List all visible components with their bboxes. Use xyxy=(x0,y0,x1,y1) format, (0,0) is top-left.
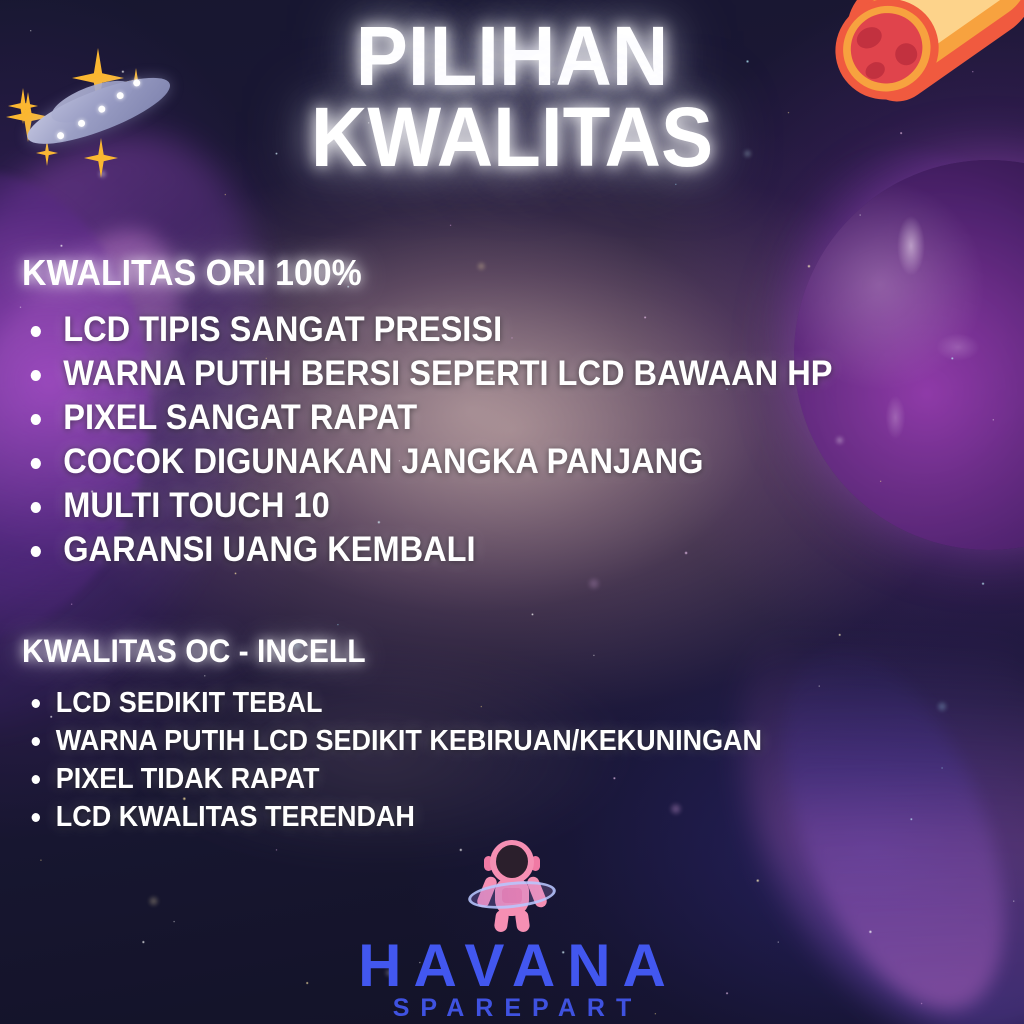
list-item: PIXEL SANGAT RAPAT xyxy=(0,396,952,440)
bullet-dot-icon xyxy=(31,326,41,337)
list-item-label: WARNA PUTIH BERSI SEPERTI LCD BAWAAN HP xyxy=(63,354,832,393)
brand-logo: HAVANA SPAREPART xyxy=(0,840,1024,1022)
feature-list-ori: LCD TIPIS SANGAT PRESISI WARNA PUTIH BER… xyxy=(0,308,1024,572)
bullet-dot-icon xyxy=(32,699,40,708)
title-line-2: KWALITAS xyxy=(36,97,988,178)
bullet-dot-icon xyxy=(31,414,41,425)
list-item-label: WARNA PUTIH LCD SEDIKIT KEBIRUAN/KEKUNIN… xyxy=(56,725,762,757)
list-item: LCD SEDIKIT TEBAL xyxy=(0,684,952,722)
poster-title: PILIHAN KWALITAS xyxy=(36,16,988,177)
bullet-dot-icon xyxy=(32,737,40,746)
brand-tagline: SPAREPART xyxy=(0,994,1024,1022)
list-item-label: LCD KWALITAS TERENDAH xyxy=(56,801,415,833)
bullet-dot-icon xyxy=(31,370,41,381)
list-item: GARANSI UANG KEMBALI xyxy=(0,528,952,572)
bullet-dot-icon xyxy=(32,813,40,822)
section-heading: KWALITAS ORI 100% xyxy=(22,252,964,294)
section-kwalitas-oc: KWALITAS OC - INCELL LCD SEDIKIT TEBAL W… xyxy=(0,633,1024,836)
list-item-label: MULTI TOUCH 10 xyxy=(63,486,329,525)
brand-name: HAVANA xyxy=(0,936,1024,996)
list-item-label: PIXEL TIDAK RAPAT xyxy=(56,763,320,795)
astronaut-leg-right xyxy=(515,909,531,933)
section-heading: KWALITAS OC - INCELL xyxy=(22,633,964,670)
title-line-1: PILIHAN xyxy=(36,16,988,97)
list-item-label: GARANSI UANG KEMBALI xyxy=(63,530,475,569)
section-kwalitas-ori: KWALITAS ORI 100% LCD TIPIS SANGAT PRESI… xyxy=(0,252,1024,572)
list-item-label: PIXEL SANGAT RAPAT xyxy=(63,398,417,437)
list-item: LCD TIPIS SANGAT PRESISI xyxy=(0,308,952,352)
astronaut-ring xyxy=(467,877,557,912)
astronaut-visor xyxy=(496,845,528,878)
list-item-label: LCD SEDIKIT TEBAL xyxy=(56,687,323,719)
list-item-label: COCOK DIGUNAKAN JANGKA PANJANG xyxy=(63,442,703,481)
list-item: LCD KWALITAS TERENDAH xyxy=(0,798,952,836)
poster-canvas: PILIHAN KWALITAS KWALITAS ORI 100% LCD T… xyxy=(0,0,1024,1024)
bullet-dot-icon xyxy=(31,546,41,557)
bullet-dot-icon xyxy=(31,458,41,469)
astronaut-leg-left xyxy=(494,909,510,933)
bullet-dot-icon xyxy=(32,775,40,784)
bullet-dot-icon xyxy=(31,502,41,513)
list-item: WARNA PUTIH LCD SEDIKIT KEBIRUAN/KEKUNIN… xyxy=(0,722,952,760)
list-item: PIXEL TIDAK RAPAT xyxy=(0,760,952,798)
list-item: COCOK DIGUNAKAN JANGKA PANJANG xyxy=(0,440,952,484)
list-item: WARNA PUTIH BERSI SEPERTI LCD BAWAAN HP xyxy=(0,352,952,396)
feature-list-oc: LCD SEDIKIT TEBAL WARNA PUTIH LCD SEDIKI… xyxy=(0,684,1024,836)
list-item-label: LCD TIPIS SANGAT PRESISI xyxy=(63,310,502,349)
astronaut-icon xyxy=(469,840,555,932)
list-item: MULTI TOUCH 10 xyxy=(0,484,952,528)
